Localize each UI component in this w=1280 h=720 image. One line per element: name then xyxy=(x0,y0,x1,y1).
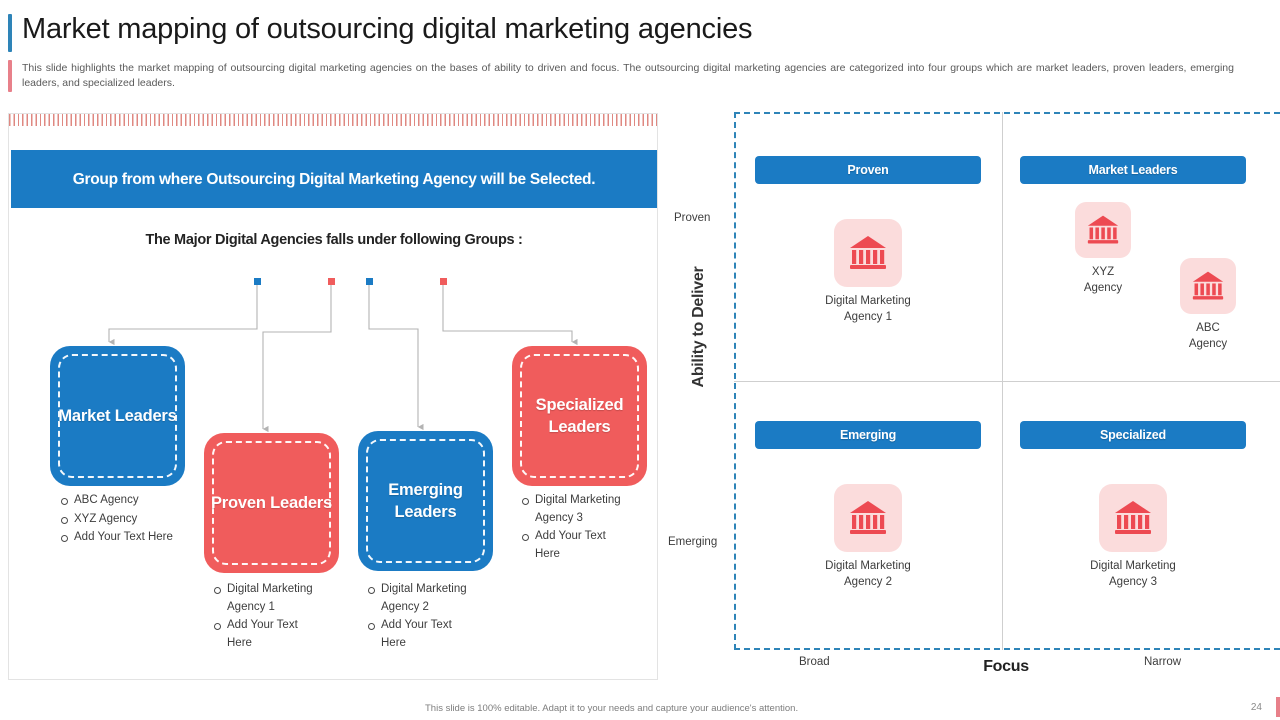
groups-caption: The Major Digital Agencies falls under f… xyxy=(9,232,659,248)
page-subtitle: This slide highlights the market mapping… xyxy=(22,61,1234,90)
matrix-node-caption: ABC Agency xyxy=(1156,320,1260,352)
matrix-node-caption: Digital Marketing Agency 2 xyxy=(801,558,935,590)
matrix-node-digital-marketing-agency-3[interactable]: Digital Marketing Agency 3 xyxy=(1066,484,1200,590)
matrix-node-digital-marketing-agency-2[interactable]: Digital Marketing Agency 2 xyxy=(801,484,935,590)
group-card-label: Emerging Leaders xyxy=(358,479,493,523)
connector-marker-market-leaders xyxy=(254,278,261,285)
page-number-accent-bar xyxy=(1276,697,1280,717)
bank-icon xyxy=(834,219,902,287)
connector-marker-emerging-leaders xyxy=(366,278,373,285)
list-item: ABC Agency xyxy=(59,492,184,510)
list-item: Add Your Text Here xyxy=(366,617,471,652)
group-card-proven-leaders[interactable]: Proven Leaders xyxy=(204,433,339,573)
y-axis-tick-emerging: Emerging xyxy=(668,536,717,548)
group-card-label: Proven Leaders xyxy=(211,492,332,514)
list-item: Digital Marketing Agency 3 xyxy=(520,492,630,527)
matrix-node-caption: Digital Marketing Agency 3 xyxy=(1066,558,1200,590)
x-axis-tick-narrow: Narrow xyxy=(1144,656,1181,668)
list-item: Add Your Text Here xyxy=(212,617,317,652)
y-axis-tick-proven: Proven xyxy=(674,212,710,224)
page-title: Market mapping of outsourcing digital ma… xyxy=(22,13,752,46)
slide-header: Market mapping of outsourcing digital ma… xyxy=(0,0,1280,100)
group-bullets-specialized-leaders: Digital Marketing Agency 3 Add Your Text… xyxy=(520,492,630,564)
connector-marker-proven-leaders xyxy=(328,278,335,285)
hatched-strip xyxy=(9,114,659,126)
bank-icon xyxy=(1075,202,1131,258)
connector-marker-specialized-leaders xyxy=(440,278,447,285)
matrix-node-abc-agency[interactable]: ABC Agency xyxy=(1156,258,1260,352)
matrix-node-digital-marketing-agency-1[interactable]: Digital Marketing Agency 1 xyxy=(801,219,935,325)
group-card-specialized-leaders[interactable]: Specialized Leaders xyxy=(512,346,647,486)
list-item: XYZ Agency xyxy=(59,511,184,529)
footer-note: This slide is 100% editable. Adapt it to… xyxy=(425,703,798,714)
groups-panel: Group from where Outsourcing Digital Mar… xyxy=(8,113,658,680)
matrix-vertical-divider xyxy=(1002,112,1003,650)
list-item: Digital Marketing Agency 2 xyxy=(366,581,471,616)
bank-icon xyxy=(1099,484,1167,552)
page-number: 24 xyxy=(1251,702,1262,713)
subtitle-accent-bar xyxy=(8,60,12,92)
bank-icon xyxy=(1180,258,1236,314)
group-bullets-emerging-leaders: Digital Marketing Agency 2 Add Your Text… xyxy=(366,581,471,653)
matrix-node-caption: Digital Marketing Agency 1 xyxy=(801,293,935,325)
group-card-label: Market Leaders xyxy=(58,405,176,427)
group-bullets-market-leaders: ABC Agency XYZ Agency Add Your Text Here xyxy=(59,492,184,548)
slide-root: Market mapping of outsourcing digital ma… xyxy=(0,0,1280,720)
groups-banner: Group from where Outsourcing Digital Mar… xyxy=(11,150,657,208)
groups-banner-text: Group from where Outsourcing Digital Mar… xyxy=(33,168,635,191)
title-accent-bar xyxy=(8,14,12,52)
group-card-market-leaders[interactable]: Market Leaders xyxy=(50,346,185,486)
quadrant-header-emerging[interactable]: Emerging xyxy=(755,421,981,449)
x-axis-title: Focus xyxy=(906,658,1106,676)
matrix-horizontal-divider xyxy=(734,381,1280,382)
group-bullets-proven-leaders: Digital Marketing Agency 1 Add Your Text… xyxy=(212,581,317,653)
quadrant-header-market-leaders[interactable]: Market Leaders xyxy=(1020,156,1246,184)
bank-icon xyxy=(834,484,902,552)
market-mapping-matrix: Proven Market Leaders Emerging Specializ… xyxy=(666,108,1280,688)
list-item: Digital Marketing Agency 1 xyxy=(212,581,317,616)
group-card-emerging-leaders[interactable]: Emerging Leaders xyxy=(358,431,493,571)
x-axis-tick-broad: Broad xyxy=(799,656,830,668)
group-card-label: Specialized Leaders xyxy=(512,394,647,438)
matrix-node-xyz-agency[interactable]: XYZ Agency xyxy=(1051,202,1155,296)
list-item: Add Your Text Here xyxy=(59,529,184,547)
matrix-node-caption: XYZ Agency xyxy=(1051,264,1155,296)
quadrant-header-specialized[interactable]: Specialized xyxy=(1020,421,1246,449)
list-item: Add Your Text Here xyxy=(520,528,630,563)
quadrant-header-proven[interactable]: Proven xyxy=(755,156,981,184)
y-axis-title: Ability to Deliver xyxy=(690,247,708,407)
